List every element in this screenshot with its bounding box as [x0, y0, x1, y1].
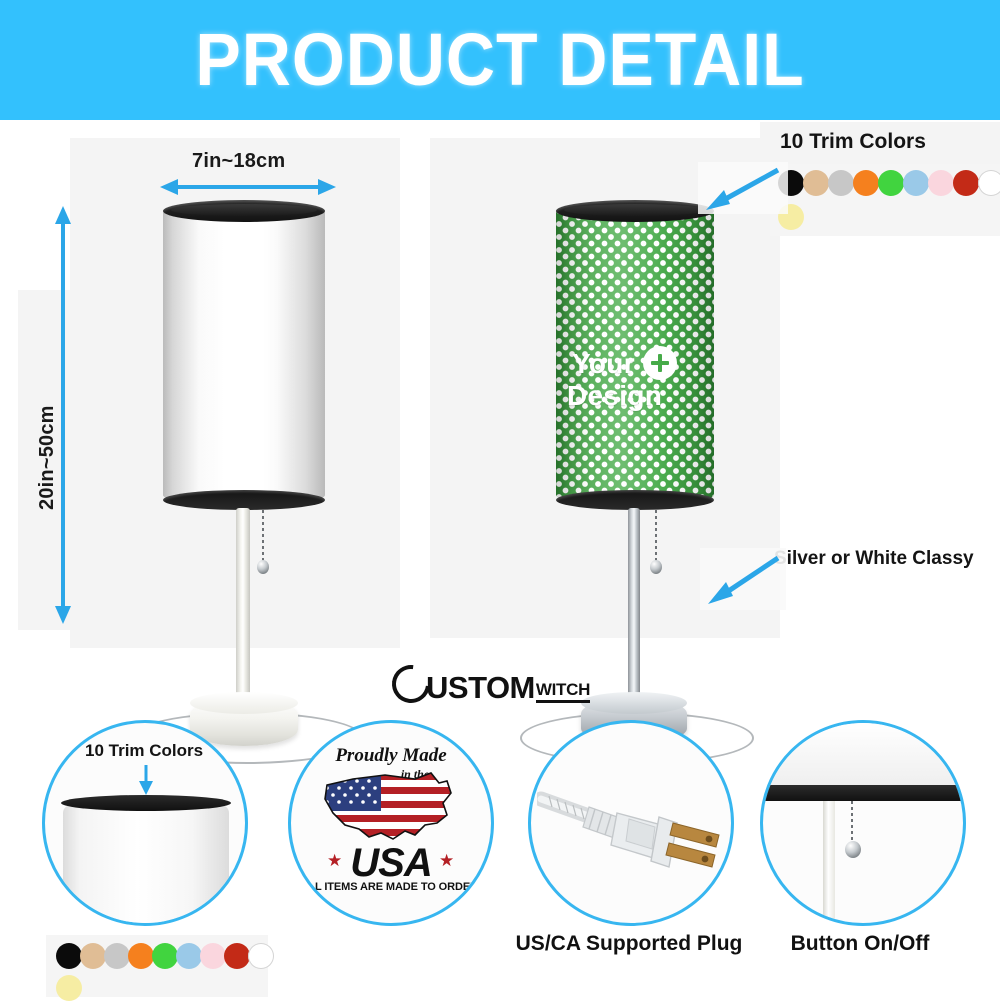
base-finish-note: Silver or White Classy	[774, 548, 974, 570]
usa-badge-word: USA	[291, 841, 491, 886]
trim-swatch-light-blue[interactable]	[176, 943, 202, 969]
width-dimension-arrow	[160, 178, 336, 196]
trim-colors-swatch-row	[770, 164, 1000, 236]
feature-plug-caption: US/CA Supported Plug	[504, 932, 754, 956]
bottom-swatch-row	[46, 935, 268, 997]
trim-swatch-black[interactable]	[56, 943, 82, 969]
pull-chain-green[interactable]	[655, 510, 657, 562]
design-text-line1: Your	[572, 348, 635, 379]
shade-crop-white	[63, 805, 229, 926]
switch-pole	[823, 801, 835, 921]
trim-swatch-pink[interactable]	[928, 170, 954, 196]
usa-badge-line1: Proudly Made	[291, 745, 491, 767]
usa-badge-footer: ALL ITEMS ARE MADE TO ORDER!	[291, 881, 491, 893]
product-stage: 7in~18cm 20in~50cm	[0, 120, 1000, 1000]
page-title: PRODUCT DETAIL	[40, 18, 960, 102]
switch-pull-chain-bead[interactable]	[845, 841, 861, 858]
switch-pull-chain[interactable]	[851, 801, 853, 845]
pull-chain-bead-green[interactable]	[650, 560, 662, 574]
header-banner: PRODUCT DETAIL	[0, 0, 1000, 120]
pull-chain-bead-white[interactable]	[257, 560, 269, 574]
trim-swatch-gray[interactable]	[828, 170, 854, 196]
feature-switch-caption: Button On/Off	[742, 932, 978, 956]
trim-swatch-tan[interactable]	[80, 943, 106, 969]
trim-swatch-red[interactable]	[953, 170, 979, 196]
trim-swatch-green[interactable]	[152, 943, 178, 969]
feature-trim-colors-circle: 10 Trim Colors	[42, 720, 248, 926]
trim-colors-title: 10 Trim Colors	[780, 130, 926, 154]
trim-swatch-orange[interactable]	[853, 170, 879, 196]
base-finish-pointer-arrow	[700, 548, 786, 610]
feature-plug-circle	[528, 720, 734, 926]
height-dimension-arrow	[54, 206, 72, 624]
trim-swatch-green[interactable]	[878, 170, 904, 196]
feature-trim-colors-label: 10 Trim Colors	[85, 741, 203, 761]
feature-switch-circle	[760, 720, 966, 926]
trim-bottom-white	[163, 490, 325, 510]
lamp-base-top-silver	[581, 692, 687, 714]
plus-icon	[643, 346, 677, 380]
brand-logo: USTOM WITCH	[392, 665, 590, 703]
trim-bottom-green	[556, 490, 714, 510]
power-plug-icon	[537, 765, 727, 885]
shade-crop-trim	[61, 795, 231, 811]
usa-star-right-icon: ★	[439, 851, 454, 871]
trim-swatch-light-blue[interactable]	[903, 170, 929, 196]
trim-swatch-pink[interactable]	[200, 943, 226, 969]
design-text-line2: Design	[567, 380, 662, 411]
trim-swatch-white[interactable]	[978, 170, 1000, 196]
trim-swatch-orange[interactable]	[128, 943, 154, 969]
trim-top-inner-white	[171, 204, 317, 216]
brand-name-main: USTOM	[426, 672, 535, 703]
trim-colors-pointer-arrow	[698, 162, 788, 214]
trim-swatch-white[interactable]	[248, 943, 274, 969]
trim-top-inner-green	[564, 204, 706, 216]
feature-trim-colors-arrow	[137, 765, 155, 795]
trim-swatch-red[interactable]	[224, 943, 250, 969]
switch-shade-crop	[760, 723, 966, 789]
lamp-pole-white	[236, 508, 250, 708]
usa-flag-map-icon	[319, 767, 465, 851]
trim-swatch-yellow[interactable]	[56, 975, 82, 1001]
lamp-base-top-white	[190, 692, 298, 714]
shade-surface	[163, 208, 325, 498]
feature-made-in-usa-circle: Proudly Made in the	[288, 720, 494, 926]
trim-swatch-gray[interactable]	[104, 943, 130, 969]
switch-trim-bar	[760, 785, 966, 801]
lamp-pole-silver	[628, 508, 640, 708]
pull-chain-white[interactable]	[262, 510, 264, 562]
width-dimension-label: 7in~18cm	[192, 150, 285, 173]
lamp-shade-white	[163, 208, 325, 498]
brand-name-sub: WITCH	[536, 681, 590, 703]
trim-swatch-tan[interactable]	[803, 170, 829, 196]
